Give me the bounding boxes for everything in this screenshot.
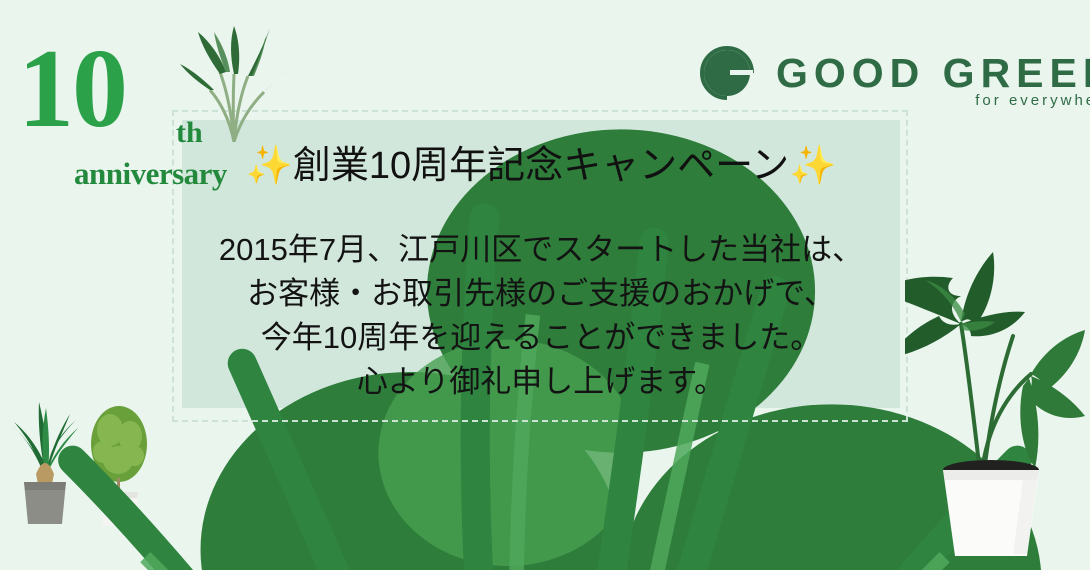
campaign-banner: 10 th anniversary GOOD GREEN for everywh…: [0, 0, 1090, 570]
brand-name: GOOD GREEN: [776, 50, 1090, 97]
body-line: 2015年7月、江戸川区でスタートした当社は、: [182, 228, 900, 272]
body-copy: 2015年7月、江戸川区でスタートした当社は、 お客様・お取引先様のご支援のおか…: [182, 228, 900, 404]
monstera-plant: [905, 232, 1085, 570]
headline-text: 創業10周年記念キャンペーン: [293, 145, 789, 187]
circle-g-icon: [698, 42, 760, 104]
brand-tagline: for everywhere: [975, 92, 1090, 109]
body-line: 心より御礼申し上げます。: [182, 360, 900, 404]
sparkle-left-icon: ✨: [245, 145, 292, 187]
brand-logo: GOOD GREEN for everywhere: [698, 42, 1090, 120]
body-line: お客様・お取引先様のご支援のおかげで、: [182, 272, 900, 316]
body-line: 今年10周年を迎えることができました。: [182, 316, 900, 360]
sparkle-right-icon: ✨: [789, 145, 836, 187]
headline: ✨創業10周年記念キャンペーン✨: [182, 134, 900, 189]
anniversary-number: 10: [18, 38, 248, 141]
